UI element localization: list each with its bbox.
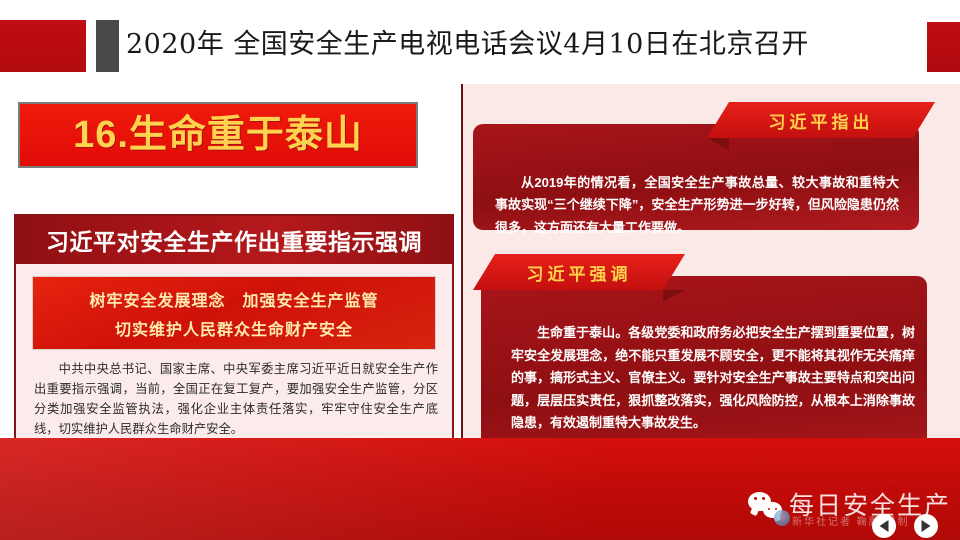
quote-card-1: 从2019年的情况看，全国安全生产事故总量、较大事故和重特大事故实现“三个继续下…	[473, 124, 919, 230]
slogan-line-1: 树牢安全发展理念 加强安全生产监管	[89, 287, 378, 311]
page-title: 2020年 全国安全生产电视电话会议4月10日在北京召开	[126, 19, 809, 71]
next-slide-button[interactable]	[914, 514, 938, 538]
chevron-right-icon	[922, 520, 931, 532]
directive-card: 习近平对安全生产作出重要指示强调 树牢安全发展理念 加强安全生产监管 切实维护人…	[14, 214, 454, 476]
slogan-box: 树牢安全发展理念 加强安全生产监管 切实维护人民群众生命财产安全	[32, 276, 436, 350]
right-column: 从2019年的情况看，全国安全生产事故总量、较大事故和重特大事故实现“三个继续下…	[463, 84, 960, 486]
quote-block-indicated: 从2019年的情况看，全国安全生产事故总量、较大事故和重特大事故实现“三个继续下…	[473, 102, 935, 232]
left-column: 16.生命重于泰山 习近平对安全生产作出重要指示强调 树牢安全发展理念 加强安全…	[0, 84, 462, 486]
header-red-block	[0, 20, 86, 72]
header-gray-block	[96, 20, 119, 72]
section-title-banner: 16.生命重于泰山	[18, 102, 418, 168]
directive-body-text: 中共中央总书记、国家主席、中央军委主席习近平近日就安全生产作出重要指示强调，当前…	[34, 360, 438, 440]
ribbon-label-1: 习近平指出	[769, 108, 874, 133]
directive-card-heading-text: 习近平对安全生产作出重要指示强调	[46, 223, 422, 257]
prev-slide-button[interactable]	[872, 514, 896, 538]
quote-text-2: 生命重于泰山。各级党委和政府务必把安全生产摆到重要位置，树牢安全发展理念，绝不能…	[511, 322, 915, 435]
directive-card-header: 习近平对安全生产作出重要指示强调	[16, 216, 452, 264]
footer-sheen	[0, 438, 600, 540]
section-title-text: 16.生命重于泰山	[73, 116, 363, 154]
page-header: 2020年 全国安全生产电视电话会议4月10日在北京召开	[0, 0, 960, 84]
slogan-line-2: 切实维护人民群众生命财产安全	[115, 316, 353, 340]
ribbon-label-2: 习近平强调	[527, 260, 632, 285]
quote-text-1: 从2019年的情况看，全国安全生产事故总量、较大事故和重特大事故实现“三个继续下…	[495, 172, 899, 239]
ribbon-2: 习近平强调	[473, 254, 685, 290]
slide-nav[interactable]	[872, 514, 938, 538]
ribbon-1: 习近平指出	[707, 102, 935, 138]
seal-icon	[774, 510, 790, 526]
header-right-red-block	[927, 22, 960, 72]
chevron-left-icon	[880, 520, 889, 532]
